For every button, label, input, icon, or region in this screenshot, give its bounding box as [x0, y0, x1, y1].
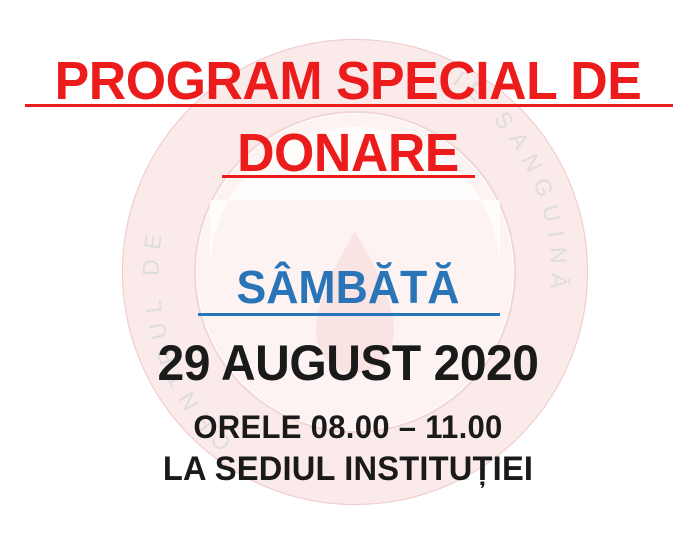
page-title-line-2: DONARE: [14, 126, 682, 180]
title-underline-2: [222, 175, 475, 178]
page-title-line-1: PROGRAM SPECIAL DE: [14, 54, 682, 108]
hours-label: ORELE 08.00 – 11.00: [10, 411, 685, 443]
poster-canvas: CENTRUL DE IE SANGUINĂ PROGRAM SPECIAL D…: [0, 0, 696, 535]
title-underline-1: [25, 104, 673, 107]
venue-label: LA SEDIUL INSTITUȚIEI: [14, 452, 682, 486]
day-label: SÂMBĂTĂ: [10, 264, 685, 310]
date-label: 29 AUGUST 2020: [14, 338, 682, 388]
day-underline: [198, 313, 500, 316]
poster-content: PROGRAM SPECIAL DE DONARE SÂMBĂTĂ 29 AUG…: [0, 0, 696, 535]
